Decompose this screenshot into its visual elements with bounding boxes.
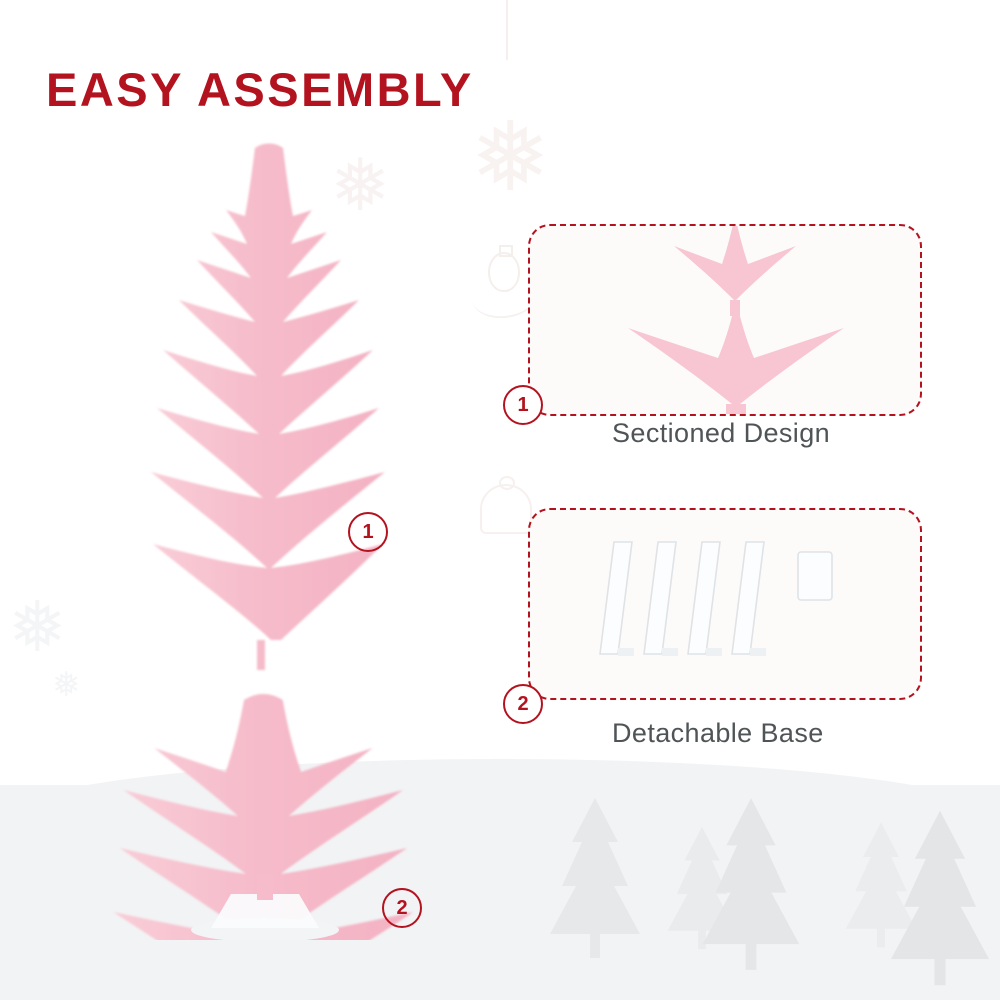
snowflake-icon: ❅ [470,110,550,206]
callout-caption-2: Detachable Base [612,718,824,749]
callout-card-1 [528,224,922,416]
callout-1-artwork [530,226,920,414]
image-canvas: ❅ ❅ ❅ ❅ EASY ASSEMBLY [0,0,1000,1000]
tree-silhouette [692,798,810,970]
snowflake-icon: ❅ [52,668,81,702]
callout-2-artwork [530,510,920,698]
callout-marker-1: 1 [503,385,543,425]
tree-bottom-section-image [626,298,846,414]
detachable-base-legs-image [584,532,874,677]
page-title: EASY ASSEMBLY [46,62,474,117]
callout-card-2 [528,508,922,700]
marker-1: 1 [348,512,388,552]
marker-2: 2 [382,888,422,928]
callout-caption-1: Sectioned Design [612,418,830,449]
bell-outline-icon [480,484,532,534]
callout-marker-2: 2 [503,684,543,724]
string-light-icon [506,0,508,60]
snowflake-icon: ❅ [8,592,67,662]
tree-silhouette [540,798,650,958]
tree-silhouette [880,810,1000,986]
